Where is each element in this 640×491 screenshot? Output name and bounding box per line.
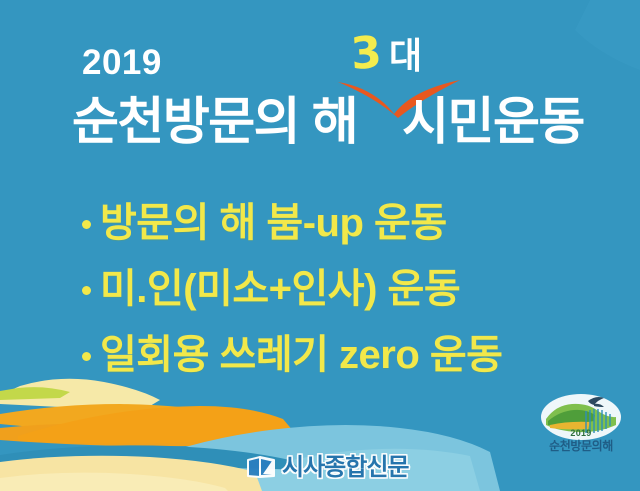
emblem-name: 순천방문의해 <box>549 440 613 452</box>
emblem-year: 2019 <box>570 429 591 438</box>
poster-title: 순천방문의 해 시민운동 <box>72 86 612 158</box>
publisher-name: 시사종합신문 <box>282 456 408 480</box>
bullet-dot-icon <box>82 352 91 361</box>
poster-canvas: 2019 3 대 순천방문의 해 시민운동 방문의 해 붐-up 운동 미.인(… <box>0 0 640 491</box>
campaign-count-number: 3 <box>350 31 384 77</box>
suncheon-wetland-emblem-icon: 2019 순천방문의해 <box>538 391 624 453</box>
publisher-watermark: 시사종합신문 <box>246 451 408 485</box>
campaign-label: 미.인(미소+인사) 운동 <box>100 269 460 309</box>
year-label: 2019 <box>82 45 162 80</box>
bullet-dot-icon <box>82 220 91 229</box>
list-item: 일회용 쓰레기 zero 운동 <box>0 322 640 388</box>
list-item: 방문의 해 붐-up 운동 <box>0 190 640 256</box>
newspaper-book-icon <box>246 455 276 481</box>
campaign-list: 방문의 해 붐-up 운동 미.인(미소+인사) 운동 일회용 쓰레기 zero… <box>0 190 640 388</box>
title-right: 시민운동 <box>402 86 584 158</box>
campaign-label: 일회용 쓰레기 zero 운동 <box>100 335 503 375</box>
list-item: 미.인(미소+인사) 운동 <box>0 256 640 322</box>
title-left: 순천방문의 해 <box>72 86 357 158</box>
campaign-count-unit: 대 <box>389 38 422 74</box>
headline-block: 2019 3 대 순천방문의 해 시민운동 <box>0 36 640 171</box>
campaign-label: 방문의 해 붐-up 운동 <box>100 203 447 243</box>
bullet-dot-icon <box>82 286 91 295</box>
